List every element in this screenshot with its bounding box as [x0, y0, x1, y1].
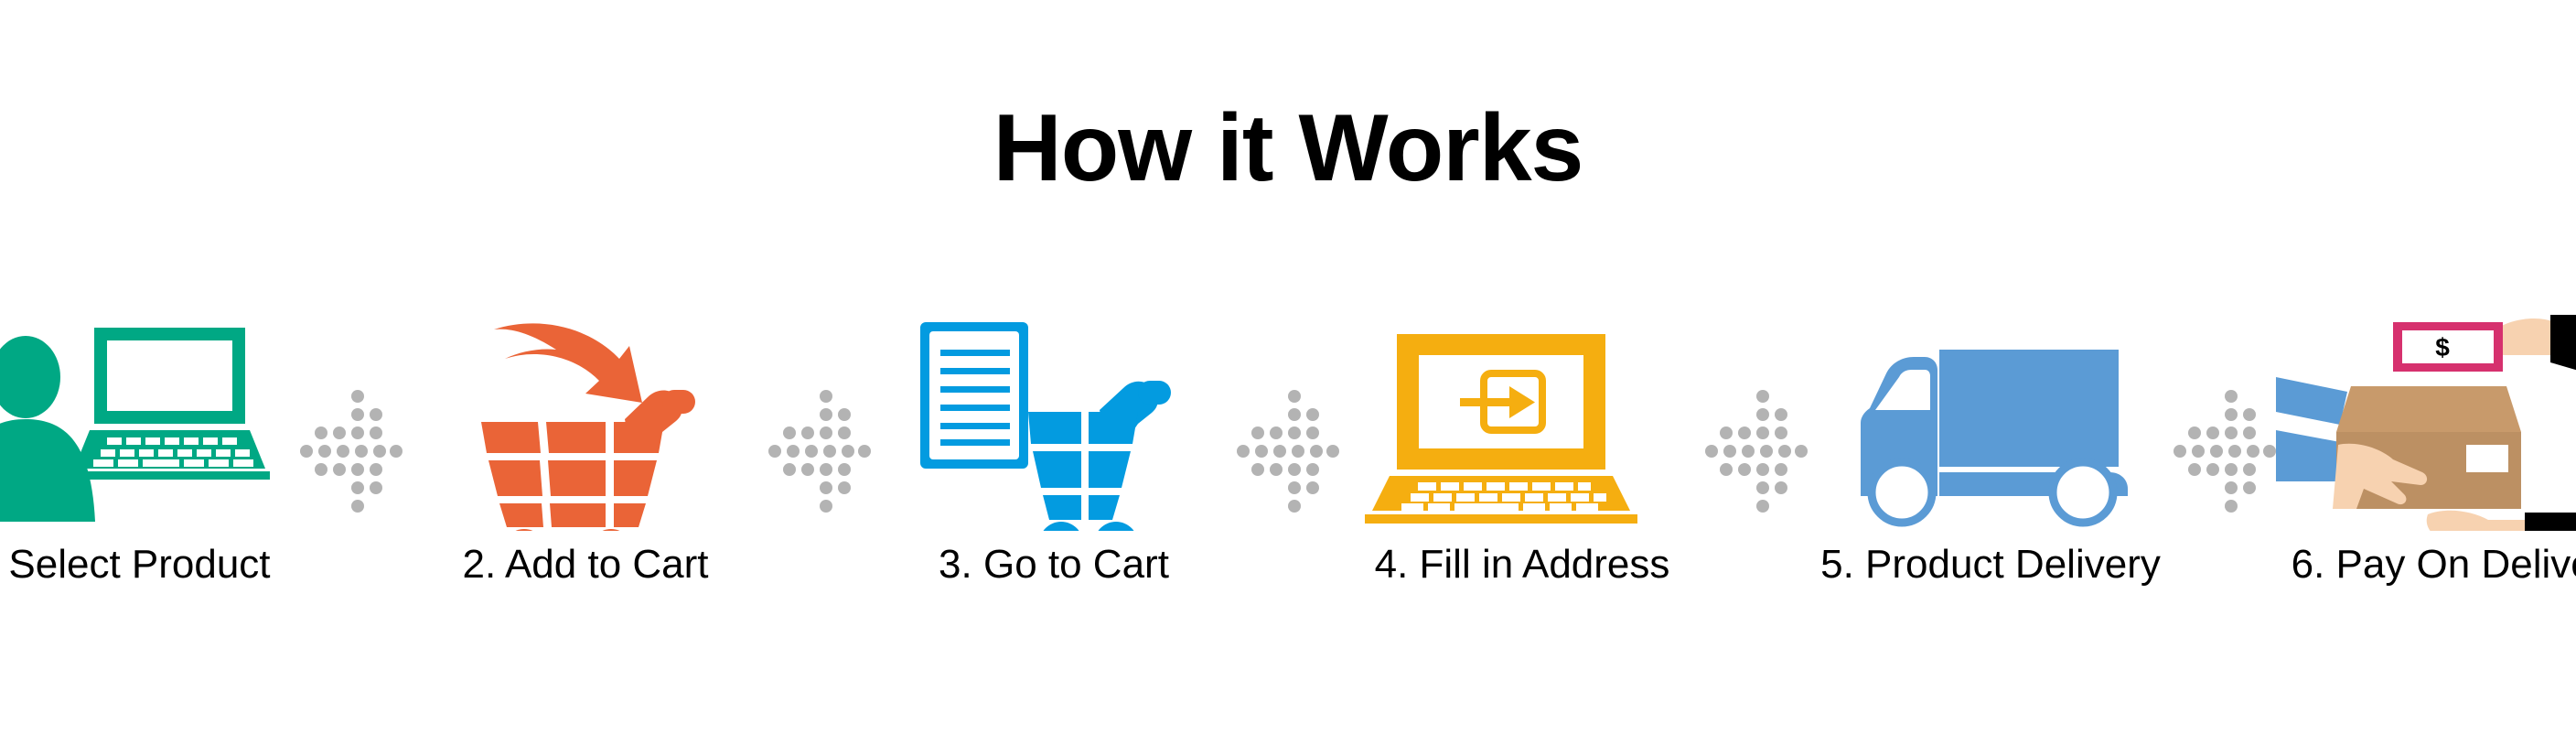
step-3-label: 3. Go to Cart [939, 542, 1169, 588]
person-at-laptop-icon [0, 302, 300, 531]
page-title: How it Works [0, 101, 2576, 196]
delivery-truck-icon [1808, 302, 2173, 531]
dollar-sign-icon: $ [2435, 333, 2450, 362]
step-4-icon-area [1339, 302, 1705, 531]
dotted-arrow-right-icon [1705, 302, 1808, 531]
step-6-icon-area: $ [2276, 302, 2576, 531]
step-1-icon-area [0, 302, 300, 531]
step-5-label: 5. Product Delivery [1820, 542, 2161, 588]
hands-box-cash-icon: $ [2276, 302, 2576, 531]
shipping-label [2466, 445, 2508, 472]
cart-with-arrow-icon [402, 302, 768, 531]
dotted-arrow-right-icon [768, 302, 871, 531]
dotted-arrow-right-icon [2173, 302, 2276, 531]
step-5-product-delivery[interactable]: 5. Product Delivery [1808, 302, 2173, 588]
step-3-go-to-cart[interactable]: 3. Go to Cart [871, 302, 1237, 588]
dotted-arrow-right-icon [1237, 302, 1339, 531]
step-6-pay-on-delivery[interactable]: $ [2276, 302, 2576, 588]
document-and-cart-icon [871, 302, 1237, 531]
step-4-fill-in-address[interactable]: 4. Fill in Address [1339, 302, 1705, 588]
step-4-label: 4. Fill in Address [1375, 542, 1670, 588]
step-1-select-product[interactable]: 1. Select Product [0, 302, 300, 588]
step-2-add-to-cart[interactable]: 2. Add to Cart [402, 302, 768, 588]
dotted-arrow-right-icon [300, 302, 402, 531]
steps-row: 1. Select Product [0, 302, 2576, 632]
laptop-login-icon [1339, 302, 1705, 531]
step-1-label: 1. Select Product [0, 542, 271, 588]
step-6-label: 6. Pay On Delivery [2292, 542, 2576, 588]
step-3-icon-area [871, 302, 1237, 531]
step-5-icon-area [1808, 302, 2173, 531]
step-2-label: 2. Add to Cart [462, 542, 708, 588]
infographic-page: How it Works [0, 0, 2576, 745]
step-2-icon-area [402, 302, 768, 531]
